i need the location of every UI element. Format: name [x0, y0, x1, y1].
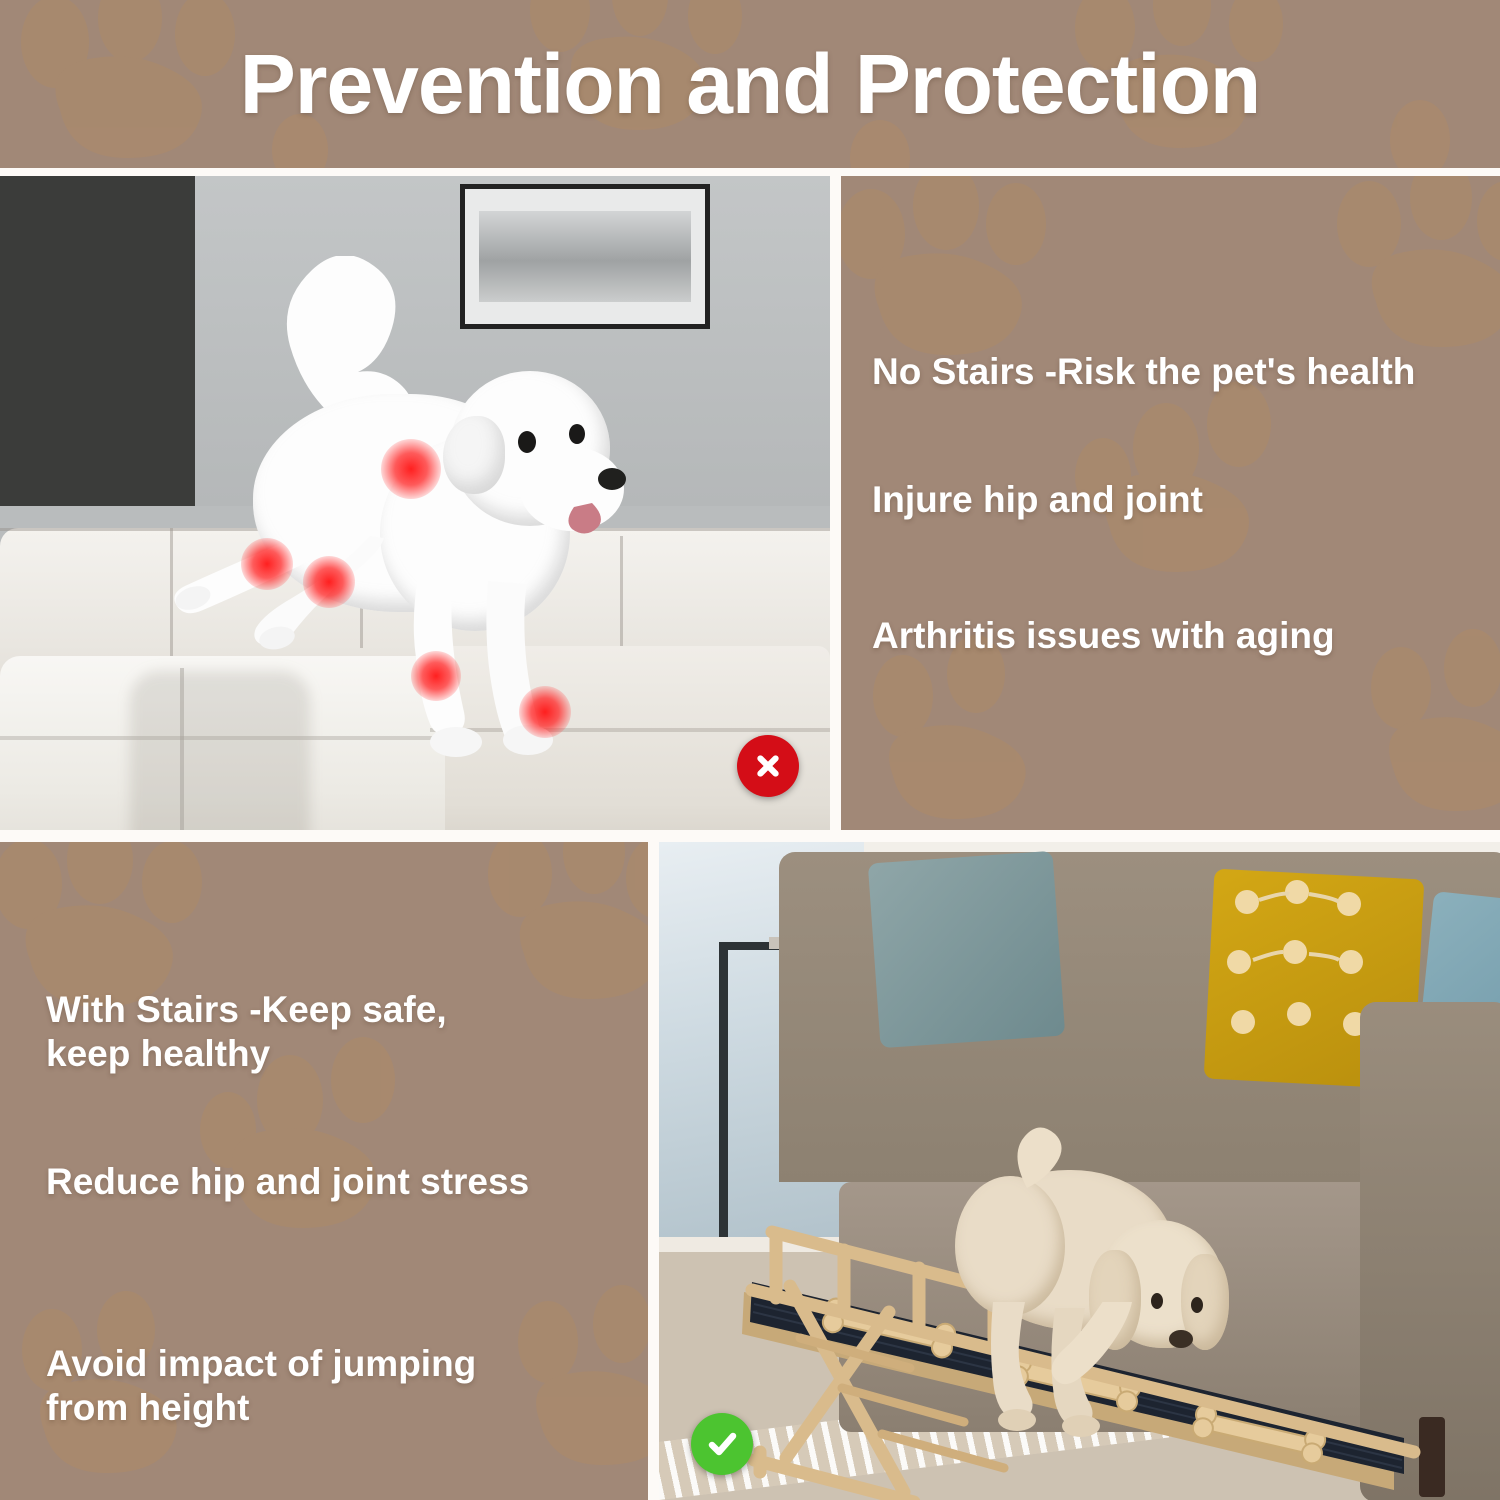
risk-line-2: Injure hip and joint: [872, 478, 1492, 522]
benefit-text-column: With Stairs -Keep safe, keep healthy Red…: [0, 842, 648, 1500]
cockapoo-dog: [949, 1142, 1239, 1442]
poster-header: Prevention and Protection: [0, 0, 1500, 168]
pain-marker-knee: [303, 556, 355, 608]
dog2-legs: [959, 1302, 1199, 1452]
pain-marker-hock: [241, 538, 293, 590]
pain-marker-elbow: [519, 686, 571, 738]
pillow-teal-left: [868, 851, 1065, 1048]
dog2-rear: [955, 1176, 1065, 1316]
risk-text-panel: No Stairs -Risk the pet's health Injure …: [841, 176, 1500, 830]
photo-dog-ramp: [659, 842, 1500, 1500]
pain-marker-shoulder: [411, 651, 461, 701]
risk-line-3: Arthritis issues with aging: [872, 614, 1492, 658]
living-room-scene-2: [659, 842, 1500, 1500]
benefit-line-1: With Stairs -Keep safe, keep healthy: [46, 988, 626, 1075]
benefit-line-2: Reduce hip and joint stress: [46, 1160, 626, 1204]
photo-jumping-dog: [0, 176, 830, 830]
dog-eyes: [465, 404, 615, 474]
page-title: Prevention and Protection: [0, 0, 1500, 168]
living-room-scene-1: [0, 176, 830, 830]
status-badge-check: [691, 1413, 753, 1475]
risk-line-1: No Stairs -Risk the pet's health: [872, 350, 1492, 394]
pain-marker-hip: [381, 439, 441, 499]
poster-root: Prevention and Protection: [0, 0, 1500, 1500]
dog-front-legs: [360, 556, 590, 771]
benefit-line-3: Avoid impact of jumping from height: [46, 1342, 626, 1429]
benefit-text-panel: With Stairs -Keep safe, keep healthy Red…: [0, 842, 648, 1500]
status-badge-x: [737, 735, 799, 797]
close-icon: [749, 747, 787, 785]
bichon-frise-dog: [165, 256, 640, 776]
dog2-tail: [949, 1124, 1069, 1194]
risk-text-column: No Stairs -Risk the pet's health Injure …: [841, 176, 1500, 830]
check-icon: [702, 1424, 742, 1464]
